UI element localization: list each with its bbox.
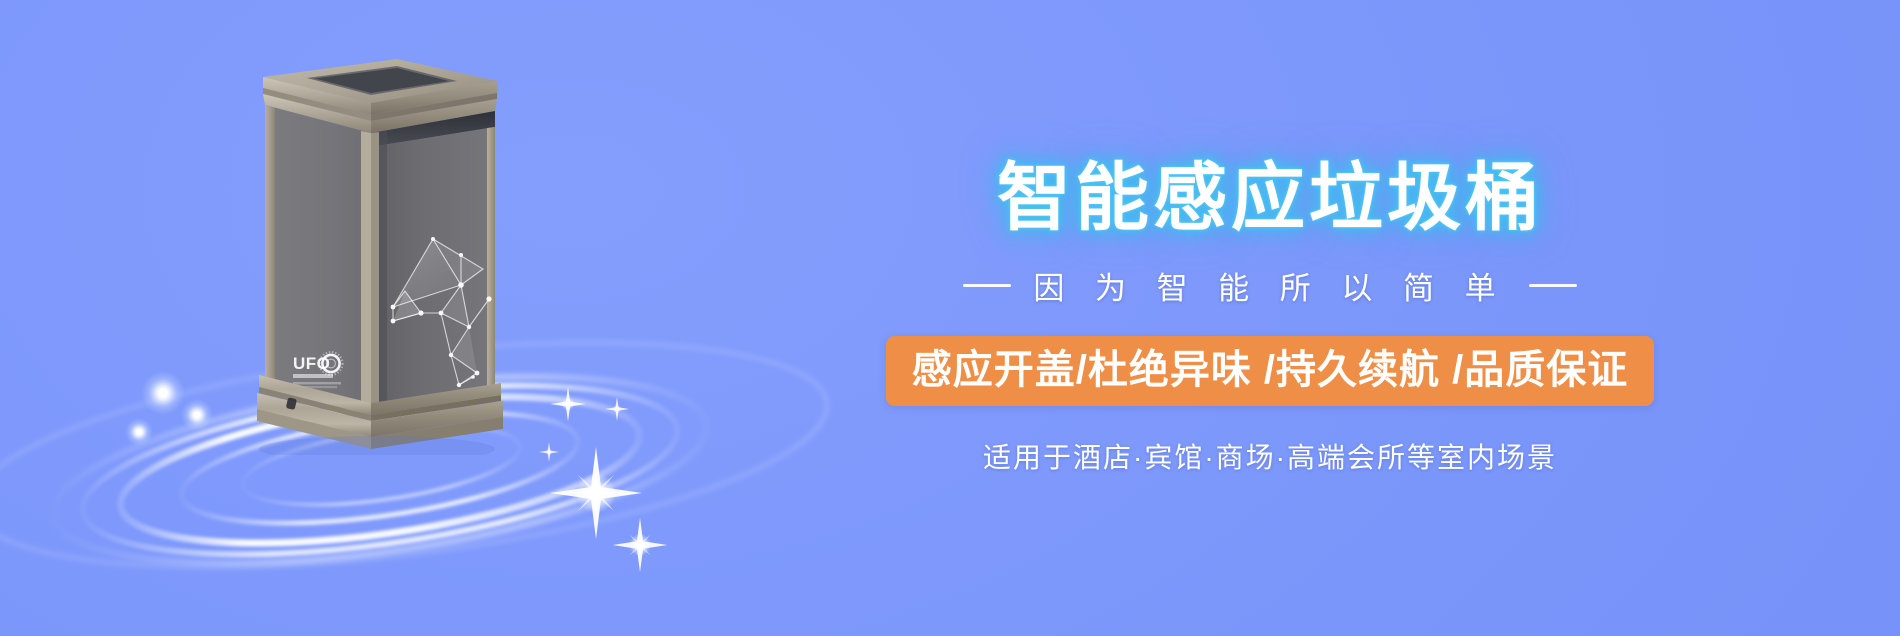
subtitle-row: 因 为 智 能 所 以 简 单 [963, 263, 1576, 308]
product-image-smart-trash-bin: UFO [245, 55, 515, 455]
sparkle-star-3 [550, 386, 585, 421]
sparkle-star-5 [539, 442, 559, 462]
feature-highlight-text: 感应开盖/杜绝异味 /持久续航 /品质保证 [912, 348, 1629, 392]
feature-highlight-bar: 感应开盖/杜绝异味 /持久续航 /品质保证 [886, 336, 1655, 406]
dash-left-icon [963, 284, 1011, 287]
dash-right-icon [1529, 284, 1577, 287]
subtitle-text: 因 为 智 能 所 以 简 单 [1033, 263, 1506, 308]
bin-edge-shadow [379, 131, 387, 404]
sparkle-star-2 [613, 518, 668, 573]
promo-banner: UFO [0, 0, 1900, 636]
usage-scenarios-caption: 适用于酒店·宾馆·商场·高端会所等室内场景 [983, 436, 1557, 476]
bin-ground-shadow [259, 436, 495, 455]
page-title: 智能感应垃圾桶 [997, 161, 1543, 235]
banner-text-column: 智能感应垃圾桶 因 为 智 能 所 以 简 单 感应开盖/杜绝异味 /持久续航 … [720, 0, 1820, 636]
